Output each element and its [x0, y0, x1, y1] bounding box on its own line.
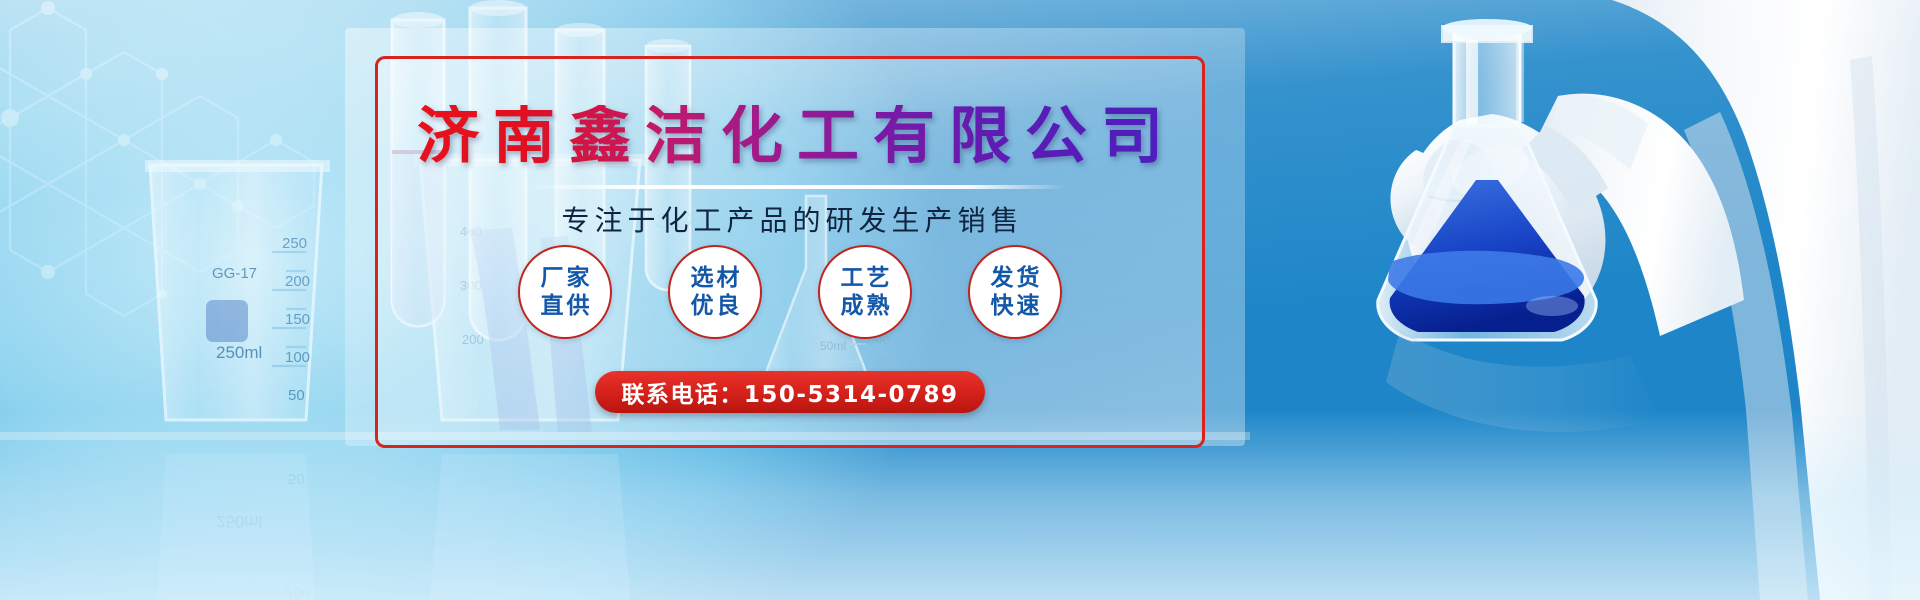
feature-badge-shipping[interactable]: 发货 快速: [968, 245, 1062, 339]
contact-phone-label: 联系电话：150-5314-0789: [621, 375, 958, 409]
badge-line-2: 直供: [538, 292, 593, 320]
feature-badge-material[interactable]: 选材 优良: [668, 245, 762, 339]
company-subtitle: 专注于化工产品的研发生产销售: [378, 199, 1202, 239]
contact-phone-button[interactable]: 联系电话：150-5314-0789: [595, 371, 984, 413]
badge-line-1: 工艺: [838, 264, 893, 292]
content-panel: 济南鑫洁化工有限公司 专注于化工产品的研发生产销售 厂家 直供 选材 优良 工艺…: [375, 56, 1205, 448]
feature-badge-manufacturer[interactable]: 厂家 直供: [518, 245, 612, 339]
contact-phone-row: 联系电话：150-5314-0789: [378, 371, 1202, 413]
badge-line-1: 发货: [988, 264, 1043, 292]
badge-line-2: 成熟: [838, 292, 893, 320]
badge-line-1: 选材: [688, 264, 743, 292]
badge-line-1: 厂家: [538, 264, 593, 292]
feature-badge-craft[interactable]: 工艺 成熟: [818, 245, 912, 339]
badge-line-2: 快速: [988, 292, 1043, 320]
company-title: 济南鑫洁化工有限公司: [378, 105, 1202, 167]
badge-line-2: 优良: [688, 292, 743, 320]
title-divider: [526, 185, 1066, 189]
feature-badge-list: 厂家 直供 选材 优良 工艺 成熟 发货 快速: [428, 245, 1152, 339]
promo-banner: 250 200 150 100 50 GG-17 250ml 400 300: [0, 0, 1920, 600]
